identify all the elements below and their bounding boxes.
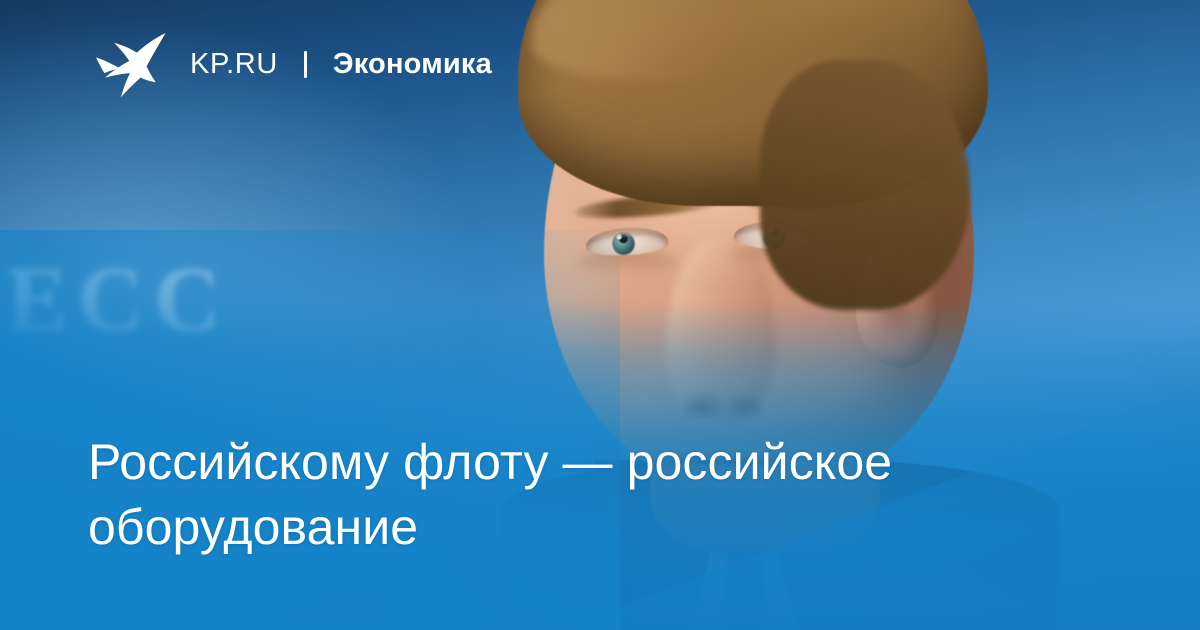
brand-block: KP.RU Экономика: [190, 32, 492, 96]
headline-line-2: оборудование: [88, 495, 1088, 560]
card-header: KP.RU Экономика: [92, 32, 492, 96]
hair-side-back: [760, 60, 970, 310]
kp-swallow-bird-logo-icon[interactable]: [92, 30, 168, 98]
brand-separator: [304, 51, 307, 78]
rubric-label[interactable]: Экономика: [333, 50, 492, 79]
social-share-card: РЕСС: [0, 0, 1200, 630]
headline: Российскому флоту — российское оборудова…: [88, 430, 1088, 560]
site-name[interactable]: KP.RU: [190, 50, 278, 79]
headline-line-1: Российскому флоту — российское: [88, 430, 1088, 495]
